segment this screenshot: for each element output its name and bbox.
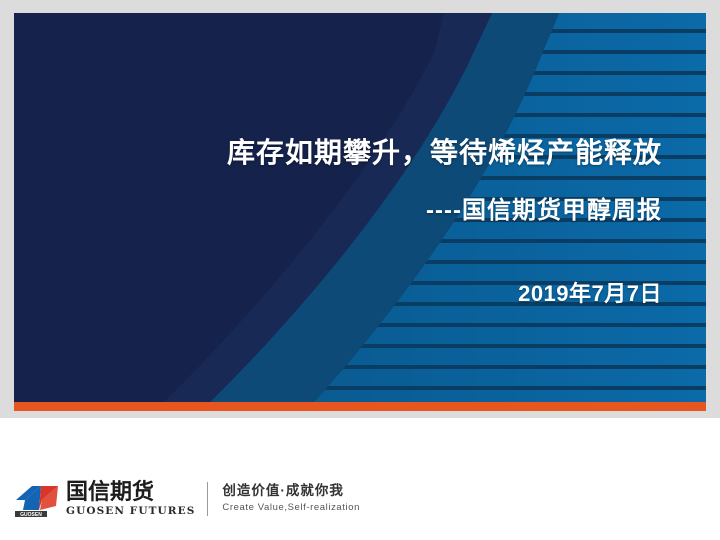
- slide-footer: GUOSEN 国信期货 GUOSEN FUTURES 创造价值·成就你我 Cre…: [0, 418, 720, 540]
- company-name-cn: 国信期货: [66, 481, 195, 504]
- guosen-logo-icon: GUOSEN: [14, 480, 60, 518]
- tagline-en: Create Value,Self-realization: [222, 502, 360, 514]
- accent-bar: [14, 402, 706, 411]
- brand-name-block: 国信期货 GUOSEN FUTURES: [66, 481, 195, 518]
- brand-lockup: GUOSEN 国信期货 GUOSEN FUTURES 创造价值·成就你我 Cre…: [14, 480, 360, 518]
- brand-divider: [207, 482, 208, 516]
- slide-sub-title: ----国信期货甲醇周报: [426, 190, 662, 225]
- company-name-en: GUOSEN FUTURES: [66, 505, 195, 518]
- title-slide: 库存如期攀升，等待烯烃产能释放 ----国信期货甲醇周报 2019年7月7日 G…: [0, 0, 720, 540]
- tagline-cn: 创造价值·成就你我: [222, 483, 360, 500]
- guosen-diamond-icon: GUOSEN: [14, 480, 60, 518]
- slide-main-title: 库存如期攀升，等待烯烃产能释放: [227, 131, 662, 171]
- logo-badge-text: GUOSEN: [20, 512, 42, 518]
- slide-date: 2019年7月7日: [518, 276, 662, 308]
- title-text-block: 库存如期攀升，等待烯烃产能释放 ----国信期货甲醇周报 2019年7月7日: [14, 13, 706, 402]
- tagline-block: 创造价值·成就你我 Create Value,Self-realization: [222, 483, 360, 514]
